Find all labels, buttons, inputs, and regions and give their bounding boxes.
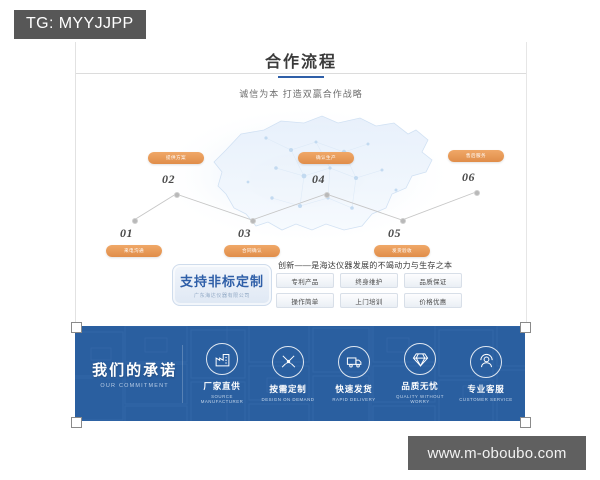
title-underline — [278, 76, 324, 78]
flow-pill-06[interactable]: 售后服务 — [448, 150, 504, 162]
flow-number-03: 03 — [238, 226, 251, 241]
customization-strip: 支持非标定制 广东海达仪器有限公司 创新——是海达仪器发展的不竭动力与生存之本 … — [76, 254, 526, 314]
feature-label-cn: 按需定制 — [255, 383, 321, 395]
custom-badge[interactable]: 支持非标定制 广东海达仪器有限公司 — [172, 264, 272, 306]
content-card: 合作流程 诚信为本 打造双赢合作战略 — [75, 42, 527, 322]
flow-number-04: 04 — [312, 172, 325, 187]
feature-item[interactable]: 专业客服 CUSTOMER SERVICE — [453, 346, 519, 402]
flow-number-06: 06 — [462, 170, 475, 185]
feature-tag[interactable]: 专利产品 — [276, 273, 334, 288]
flow-node-dot-03 — [250, 218, 256, 224]
url-watermark: www.m-oboubo.com — [408, 436, 586, 470]
telegram-watermark: TG: MYYJJPP — [14, 10, 146, 39]
flow-node-dot-02 — [174, 192, 180, 198]
commitment-block: 我们的承诺 OUR COMMITMENT — [75, 359, 182, 389]
truck-icon — [338, 346, 370, 378]
feature-tag[interactable]: 价格优惠 — [404, 293, 462, 308]
flow-pill-04[interactable]: 确认生产 — [298, 152, 354, 164]
feature-label-en: CUSTOMER SERVICE — [453, 397, 519, 402]
selection-handle-top-right[interactable] — [520, 322, 531, 333]
tools-icon — [272, 346, 304, 378]
feature-item[interactable]: 快速发货 RAPID DELIVERY — [321, 346, 387, 402]
commitment-banner: 我们的承诺 OUR COMMITMENT 厂家直供 SOURCE MANUFAC… — [75, 326, 525, 421]
feature-tag[interactable]: 终身维护 — [340, 273, 398, 288]
feature-label-cn: 品质无忧 — [387, 380, 453, 392]
commitment-title-cn: 我们的承诺 — [87, 359, 182, 380]
flow-number-01: 01 — [120, 226, 133, 241]
feature-tag[interactable]: 操作简单 — [276, 293, 334, 308]
innovation-tagline: 创新——是海达仪器发展的不竭动力与生存之本 — [278, 260, 452, 271]
flow-node-dot-01 — [132, 218, 138, 224]
feature-label-en: RAPID DELIVERY — [321, 397, 387, 402]
feature-tag[interactable]: 品质保证 — [404, 273, 462, 288]
feature-label-en: QUALITY WITHOUT WORRY — [387, 394, 453, 404]
feature-label-cn: 厂家直供 — [189, 380, 255, 392]
feature-item[interactable]: 厂家直供 SOURCE MANUFACTURER — [189, 343, 255, 404]
feature-label-cn: 快速发货 — [321, 383, 387, 395]
feature-tag[interactable]: 上门培训 — [340, 293, 398, 308]
banner-content: 我们的承诺 OUR COMMITMENT 厂家直供 SOURCE MANUFAC… — [75, 326, 525, 421]
commitment-title-en: OUR COMMITMENT — [87, 383, 182, 389]
diamond-icon — [404, 343, 436, 375]
custom-badge-company: 广东海达仪器有限公司 — [194, 292, 250, 299]
flow-node-dot-05 — [400, 218, 406, 224]
flow-pill-02[interactable]: 提供方案 — [148, 152, 204, 164]
feature-label-en: SOURCE MANUFACTURER — [189, 394, 255, 404]
header-divider — [76, 73, 526, 74]
flow-number-02: 02 — [162, 172, 175, 187]
flow-number-05: 05 — [388, 226, 401, 241]
china-map-flow: 01 来电沟通 02 提供方案 03 合同确认 04 确认生产 05 发货验收 … — [76, 90, 526, 255]
selection-handle-top-left[interactable] — [71, 322, 82, 333]
custom-badge-title: 支持非标定制 — [180, 271, 264, 290]
feature-tag-grid: 专利产品 终身维护 品质保证 操作简单 上门培训 价格优惠 — [276, 273, 466, 308]
feature-item[interactable]: 品质无忧 QUALITY WITHOUT WORRY — [387, 343, 453, 404]
feature-label-en: DESIGN ON DEMAND — [255, 397, 321, 402]
selection-handle-bottom-right[interactable] — [520, 417, 531, 428]
page-title: 合作流程 — [76, 48, 526, 72]
feature-label-cn: 专业客服 — [453, 383, 519, 395]
selection-handle-bottom-left[interactable] — [71, 417, 82, 428]
headset-icon — [470, 346, 502, 378]
flow-node-dot-04 — [324, 192, 330, 198]
feature-item[interactable]: 按需定制 DESIGN ON DEMAND — [255, 346, 321, 402]
flow-steps: 01 来电沟通 02 提供方案 03 合同确认 04 确认生产 05 发货验收 … — [76, 90, 526, 255]
factory-icon — [206, 343, 238, 375]
flow-node-dot-06 — [474, 190, 480, 196]
feature-row: 厂家直供 SOURCE MANUFACTURER 按需定制 DESIGN ON … — [183, 343, 525, 404]
